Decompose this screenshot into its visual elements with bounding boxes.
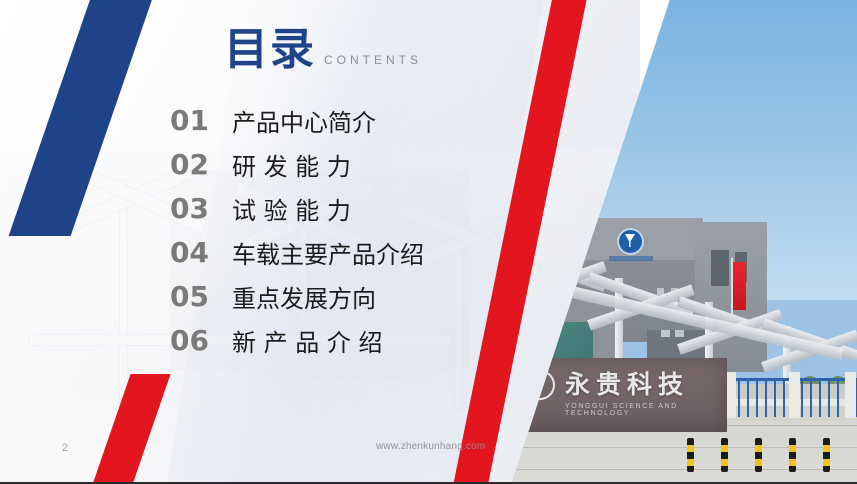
contents-item-label: 产品中心简介	[232, 103, 376, 138]
company-name-en: YONGGUI SCIENCE AND TECHNOLOGY	[565, 403, 727, 417]
bollard	[687, 438, 694, 472]
contents-item-02[interactable]: 02 研 发 能 力	[170, 142, 530, 186]
contents-item-label: 车载主要产品介绍	[232, 235, 424, 270]
bollard	[823, 438, 830, 472]
contents-item-label: 新 产 品 介 绍	[232, 323, 383, 358]
national-flag	[733, 262, 746, 310]
contents-item-03[interactable]: 03 试 验 能 力	[170, 186, 530, 230]
title-english: CONTENTS	[316, 53, 422, 76]
page-title: 目录CONTENTS	[224, 24, 422, 76]
contents-item-05[interactable]: 05 重点发展方向	[170, 274, 530, 318]
watermark: www.zhenkunhang.com	[376, 441, 485, 452]
page-number: 2	[62, 442, 68, 454]
contents-item-01[interactable]: 01 产品中心简介	[170, 98, 530, 142]
bollard	[721, 438, 728, 472]
building-logo-icon	[617, 228, 644, 255]
company-name-cn: 永贵科技	[565, 370, 689, 400]
contents-item-06[interactable]: 06 新 产 品 介 绍	[170, 318, 530, 362]
contents-item-number: 04	[170, 236, 232, 269]
contents-item-number: 02	[170, 148, 232, 181]
building-logo-text	[609, 256, 653, 261]
contents-item-number: 05	[170, 280, 232, 313]
contents-item-number: 06	[170, 324, 232, 357]
contents-item-04[interactable]: 04 车载主要产品介绍	[170, 230, 530, 274]
contents-list: 01 产品中心简介 02 研 发 能 力 03 试 验 能 力 04 车载主要产…	[170, 98, 530, 362]
bollard	[755, 438, 762, 472]
presentation-slide: 永贵科技 YONGGUI SCIENCE AND TECHNOLOGY 目录CO…	[0, 0, 857, 484]
title-chinese: 目录	[224, 24, 316, 76]
contents-item-number: 03	[170, 192, 232, 225]
bollard	[789, 438, 796, 472]
contents-item-label: 试 验 能 力	[232, 191, 351, 226]
contents-item-label: 重点发展方向	[232, 279, 376, 314]
contents-item-label: 研 发 能 力	[232, 147, 351, 182]
contents-item-number: 01	[170, 104, 232, 137]
